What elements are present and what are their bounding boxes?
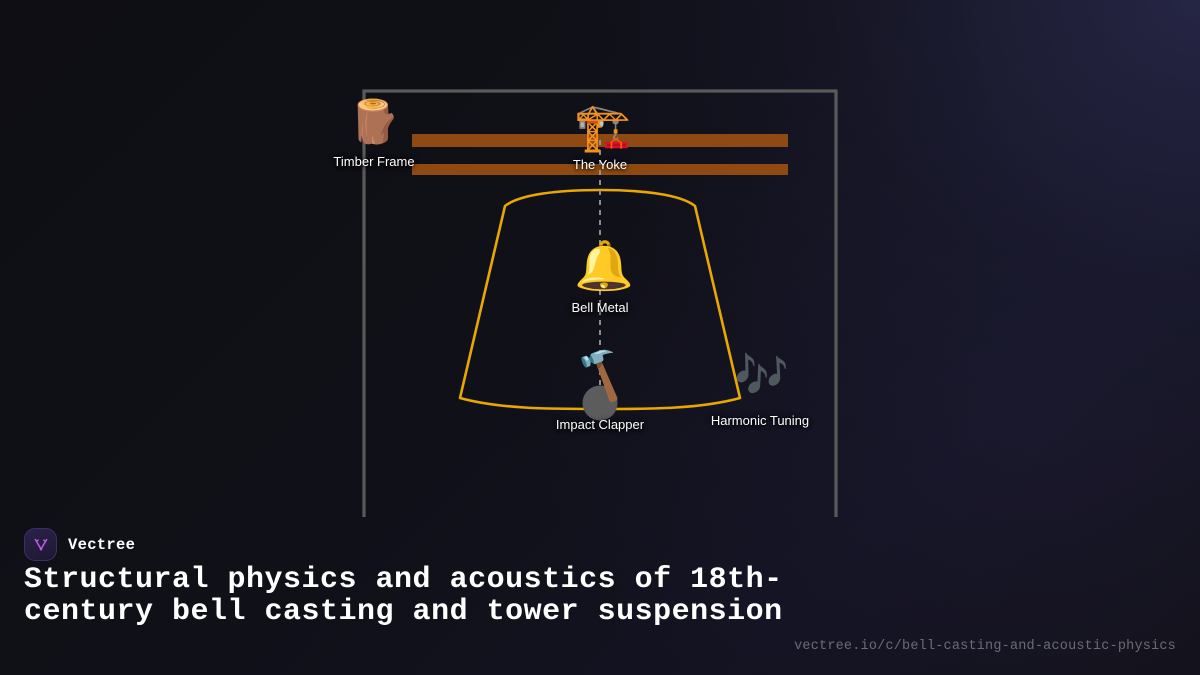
node-label-the-yoke: The Yoke: [573, 157, 627, 172]
site-url: vectree.io/c/bell-casting-and-acoustic-p…: [794, 639, 1176, 654]
vectree-glyph-node: [39, 547, 42, 550]
bell-icon: 🔔: [574, 242, 626, 290]
node-label-timber-frame: Timber Frame: [333, 154, 414, 169]
page-title: Structural physics and acoustics of 18th…: [24, 564, 824, 628]
footer: Vectree Structural physics and acoustics…: [0, 515, 1200, 675]
vectree-glyph: [31, 535, 51, 555]
musical-notes-icon: 🎶: [734, 354, 786, 398]
vectree-logo-icon: [24, 528, 57, 561]
node-label-bell-metal: Bell Metal: [571, 300, 628, 315]
construction-crane-icon: 🏗️: [574, 104, 626, 150]
node-label-harmonic-tuning: Harmonic Tuning: [711, 413, 809, 428]
brand-name: Vectree: [68, 536, 135, 554]
screenshot-root: 🪵 🏗️ 🔔 🔨 🎶 Timber Frame The Yoke Bell Me…: [0, 0, 1200, 675]
bell-tower-diagram: 🪵 🏗️ 🔔 🔨 🎶 Timber Frame The Yoke Bell Me…: [0, 0, 1200, 540]
wood-log-icon: 🪵: [348, 101, 400, 143]
node-label-impact-clapper: Impact Clapper: [556, 417, 644, 432]
brand-lockup: Vectree: [24, 528, 135, 561]
